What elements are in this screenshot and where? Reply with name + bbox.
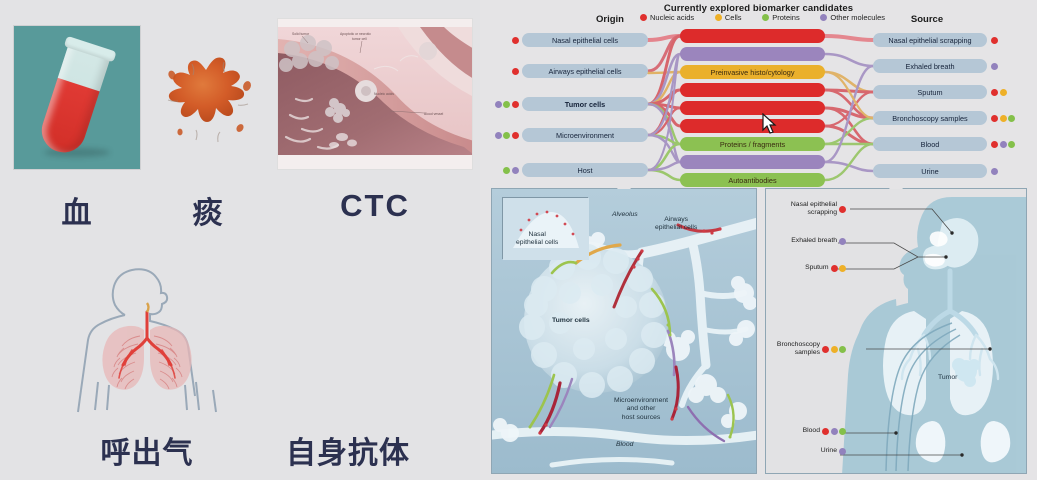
body-annotation-label: Blood [803, 427, 820, 435]
source-dot-1 [1000, 89, 1007, 96]
biomarker-node[interactable] [680, 83, 825, 97]
origin-node-dots [512, 37, 519, 44]
biomarker-node[interactable] [680, 155, 825, 169]
source-dot-0 [991, 115, 998, 122]
biomarker-figure: Currently explored biomarker candidates … [480, 0, 1037, 480]
body-annotation-dots [822, 346, 846, 353]
body-annotation-dots [839, 206, 846, 213]
source-node-dots [991, 141, 1015, 148]
body-dot-1 [831, 346, 838, 353]
panel-left-caret [617, 180, 631, 189]
origin-node[interactable]: Tumor cells [522, 97, 648, 111]
caption-sputum: 痰 [152, 188, 264, 232]
svg-text:Nucleic acids: Nucleic acids [374, 92, 394, 96]
torso-svg [62, 258, 232, 423]
origin-node-dots [512, 68, 519, 75]
origin-dot-1 [503, 132, 510, 139]
panel-right-caret [889, 180, 903, 189]
body-dot-0 [839, 206, 846, 213]
tumor-microenvironment-panel: Nasal epithelial cellsAlveolusAirways ep… [491, 188, 757, 474]
body-annotation: Exhaled breath [772, 237, 846, 245]
origin-dot-0 [495, 132, 502, 139]
body-annotation: Blood [772, 427, 846, 435]
origin-dot-1 [512, 167, 519, 174]
source-node-dots [991, 89, 1007, 96]
origin-dot-0 [503, 167, 510, 174]
body-annotation-dots [822, 428, 846, 435]
source-dot-1 [1000, 115, 1007, 122]
source-dot-0 [991, 89, 998, 96]
source-node[interactable]: Sputum [873, 85, 987, 99]
origin-node[interactable]: Airways epithelial cells [522, 64, 648, 78]
lungs-torso-image [62, 258, 232, 423]
origin-dot-0 [495, 101, 502, 108]
body-annotation: Sputum [772, 264, 846, 272]
source-dot-0 [991, 141, 998, 148]
screenshot-root: 血 [0, 0, 1037, 480]
body-dot-0 [822, 428, 829, 435]
scene-label: Tumor cells [552, 317, 590, 325]
body-annotation-dots [831, 265, 847, 272]
biomarker-node[interactable]: Proteins / fragments [680, 137, 825, 151]
origin-node[interactable]: Host [522, 163, 648, 177]
body-annotation-label: Urine [821, 447, 837, 455]
origin-node-dots [495, 132, 519, 139]
body-annotation-label: Bronchoscopy samples [777, 341, 820, 357]
source-dot-0 [991, 168, 998, 175]
svg-text:Blood vessel: Blood vessel [424, 112, 443, 116]
origin-node-dots [503, 167, 519, 174]
caption-ctc: CTC [277, 188, 473, 224]
mouse-pointer [762, 113, 778, 135]
test-tube [36, 40, 112, 158]
body-annotation-label: Exhaled breath [791, 237, 837, 245]
biomarker-node[interactable] [680, 29, 825, 43]
origin-dot-2 [512, 101, 519, 108]
source-node-dots [991, 63, 998, 70]
svg-text:Solid tumor: Solid tumor [292, 32, 310, 36]
origin-node[interactable]: Microenvironment [522, 128, 648, 142]
biomarker-node[interactable] [680, 101, 825, 115]
tumor-text: Tumor [938, 374, 958, 381]
body-dot-2 [839, 428, 846, 435]
scene-label: Blood [616, 441, 633, 449]
body-dot-1 [839, 265, 846, 272]
body-annotation-label: Sputum [805, 264, 828, 272]
caption-autoantibodies: 自身抗体 [253, 428, 443, 472]
body-annotation-dots [839, 238, 846, 245]
scene-label: Airways epithelial cells [655, 216, 697, 233]
biomarker-node[interactable] [680, 119, 825, 133]
source-dot-2 [1008, 115, 1015, 122]
biomarker-node[interactable]: Preinvasive histo/cytology [680, 65, 825, 79]
body-dot-2 [839, 346, 846, 353]
sputum-splat-image [152, 42, 264, 154]
body-dot-0 [831, 265, 838, 272]
origin-dot-0 [512, 68, 519, 75]
body-annotation-label: Nasal epithelial scrapping [791, 201, 837, 217]
source-dot-2 [1008, 141, 1015, 148]
source-dot-0 [991, 37, 998, 44]
source-node[interactable]: Exhaled breath [873, 59, 987, 73]
biomarker-node[interactable] [680, 47, 825, 61]
source-node[interactable]: Urine [873, 164, 987, 178]
origin-dot-2 [512, 132, 519, 139]
biomarker-node[interactable]: Autoantibodies [680, 173, 825, 187]
source-node-dots [991, 37, 998, 44]
source-node[interactable]: Blood [873, 137, 987, 151]
caption-exhaled-breath: 呼出气 [62, 428, 232, 472]
source-node-dots [991, 168, 998, 175]
nasal-epithelial-inset [502, 197, 588, 259]
human-body-sources-panel: Tumor Nasal epithelial scrappingExhaled … [765, 188, 1027, 474]
source-node[interactable]: Nasal epithelial scrapping [873, 33, 987, 47]
scene-label: Nasal epithelial cells [516, 231, 558, 248]
svg-text:tumor cell: tumor cell [352, 37, 367, 41]
body-dot-0 [839, 238, 846, 245]
left-image-collage: 血 [0, 0, 480, 480]
caption-blood: 血 [13, 188, 141, 232]
splat-svg [152, 42, 264, 154]
blood-tube-image [13, 25, 141, 170]
ctc-vessel-image: Solid tumor Apoptotic or necrotic tumor … [277, 18, 473, 170]
body-annotation: Bronchoscopy samples [772, 341, 846, 357]
origin-dot-0 [512, 37, 519, 44]
body-dot-1 [831, 428, 838, 435]
body-annotation: Urine [772, 447, 846, 455]
source-node-dots [991, 115, 1015, 122]
body-annotation: Nasal epithelial scrapping [772, 201, 846, 217]
body-dot-0 [839, 448, 846, 455]
source-node[interactable]: Bronchoscopy samples [873, 111, 987, 125]
ctc-svg: Solid tumor Apoptotic or necrotic tumor … [278, 19, 473, 170]
origin-dot-1 [503, 101, 510, 108]
source-dot-1 [1000, 141, 1007, 148]
scene-label: Alveolus [612, 211, 638, 219]
origin-node-dots [495, 101, 519, 108]
body-annotation-dots [839, 448, 846, 455]
origin-node[interactable]: Nasal epithelial cells [522, 33, 648, 47]
nasal-inset-svg [503, 198, 589, 260]
source-dot-0 [991, 63, 998, 70]
body-dot-0 [822, 346, 829, 353]
svg-text:Apoptotic or necrotic: Apoptotic or necrotic [340, 32, 371, 36]
scene-label: Microenvironment and other host sources [614, 397, 668, 422]
